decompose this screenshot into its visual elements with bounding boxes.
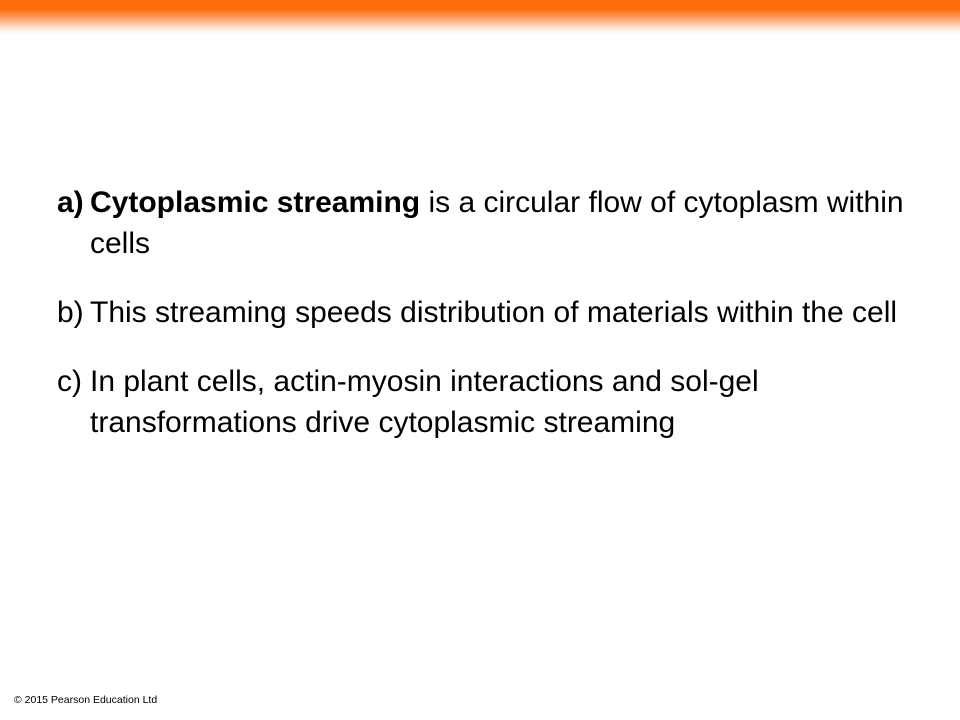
list-marker-c: c) (57, 361, 90, 402)
list-text-a: Cytoplasmic streaming is a circular flow… (90, 182, 917, 264)
slide: a) Cytoplasmic streaming is a circular f… (0, 0, 960, 720)
slide-body: a) Cytoplasmic streaming is a circular f… (57, 182, 917, 443)
band-gradient-fade (0, 9, 960, 34)
list-item: c) In plant cells, actin-myosin interact… (57, 361, 917, 443)
orange-gradient-band (0, 0, 960, 34)
list-item: a) Cytoplasmic streaming is a circular f… (57, 182, 917, 264)
band-solid-stripe (0, 0, 960, 9)
list-item: b) This streaming speeds distribution of… (57, 292, 917, 333)
list-text-b: This streaming speeds distribution of ma… (90, 292, 917, 333)
list-marker-b: b) (57, 292, 90, 333)
copyright-notice: © 2015 Pearson Education Ltd (14, 694, 157, 707)
emphasis-term: Cytoplasmic streaming (90, 186, 420, 219)
list-marker-a: a) (57, 182, 90, 223)
list-text-c: In plant cells, actin-myosin interaction… (90, 361, 917, 443)
